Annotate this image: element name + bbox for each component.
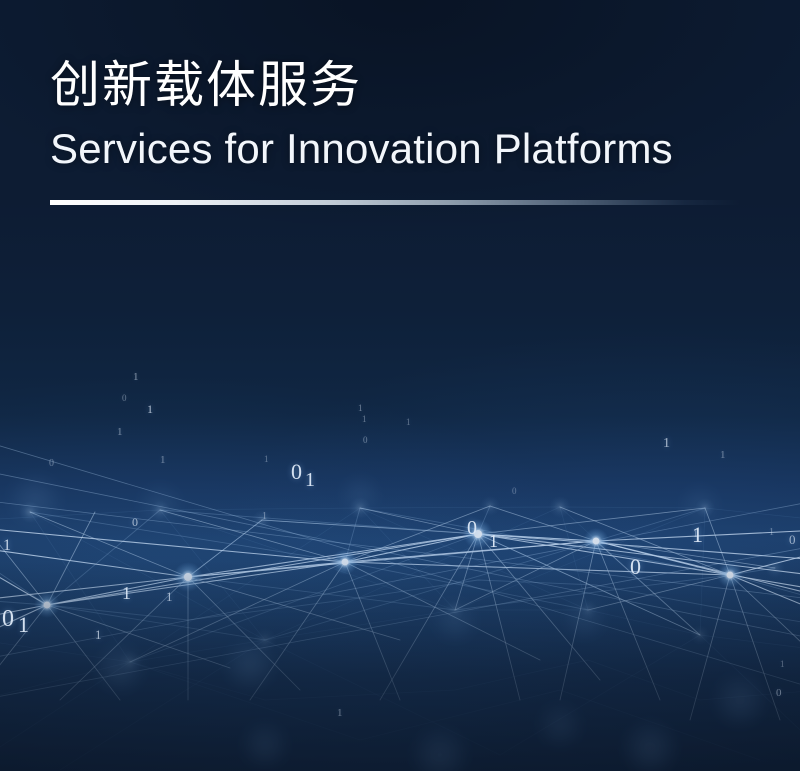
bokeh-orb [93, 641, 147, 695]
binary-digit: 1 [3, 538, 11, 554]
bokeh-orb [239, 719, 291, 771]
banner-text-block: 创新载体服务 Services for Innovation Platforms [50, 56, 750, 172]
binary-digit: 0 [789, 533, 796, 546]
binary-digit: 1 [166, 590, 173, 603]
binary-digit: 1 [720, 450, 726, 461]
binary-digit: 1 [692, 524, 703, 546]
binary-digit: 1 [337, 708, 343, 719]
binary-digit: 1 [489, 532, 498, 550]
binary-digit: 1 [122, 584, 131, 602]
binary-digit: 0 [776, 688, 782, 699]
binary-digit: 0 [630, 556, 641, 578]
binary-digit: 1 [358, 404, 363, 413]
binary-digit: 1 [95, 628, 102, 641]
binary-digit: 1 [264, 455, 269, 464]
binary-digit: 1 [133, 372, 139, 383]
binary-digit: 0 [363, 436, 368, 445]
binary-digit: 0 [132, 516, 138, 528]
bokeh-orb [338, 473, 382, 517]
bokeh-orb [6, 471, 64, 529]
binary-digit: 0 [467, 518, 477, 538]
bokeh-orb [620, 718, 680, 771]
binary-digit: 1 [262, 512, 267, 522]
binary-digit: 1 [362, 415, 367, 424]
binary-digit: 0 [512, 487, 517, 496]
bokeh-orb [678, 483, 722, 527]
page-subtitle-english: Services for Innovation Platforms [50, 125, 750, 172]
binary-digit: 1 [18, 614, 29, 636]
bokeh-orb [136, 481, 184, 529]
binary-digit: 0 [2, 607, 14, 631]
bokeh-orb [222, 637, 278, 693]
binary-digit: 0 [291, 461, 302, 483]
bokeh-orb [562, 595, 608, 641]
binary-digit: 1 [305, 470, 315, 490]
binary-digit: 0 [122, 394, 127, 403]
bokeh-orb [711, 671, 769, 729]
binary-digit: 1 [780, 660, 785, 669]
binary-digit: 1 [147, 403, 153, 415]
binary-digit: 1 [406, 418, 411, 427]
binary-digit: 1 [117, 427, 123, 438]
bokeh-orb [535, 700, 585, 750]
binary-digit: 1 [160, 455, 166, 466]
innovation-platform-banner: 1011110110101110101100111011101110 创新载体服… [0, 0, 800, 771]
bokeh-orb [431, 596, 479, 644]
page-title-chinese: 创新载体服务 [50, 56, 750, 115]
binary-digit: 0 [49, 459, 54, 469]
binary-digit: 1 [769, 528, 774, 538]
binary-digit: 1 [663, 437, 670, 451]
title-divider [50, 200, 740, 205]
